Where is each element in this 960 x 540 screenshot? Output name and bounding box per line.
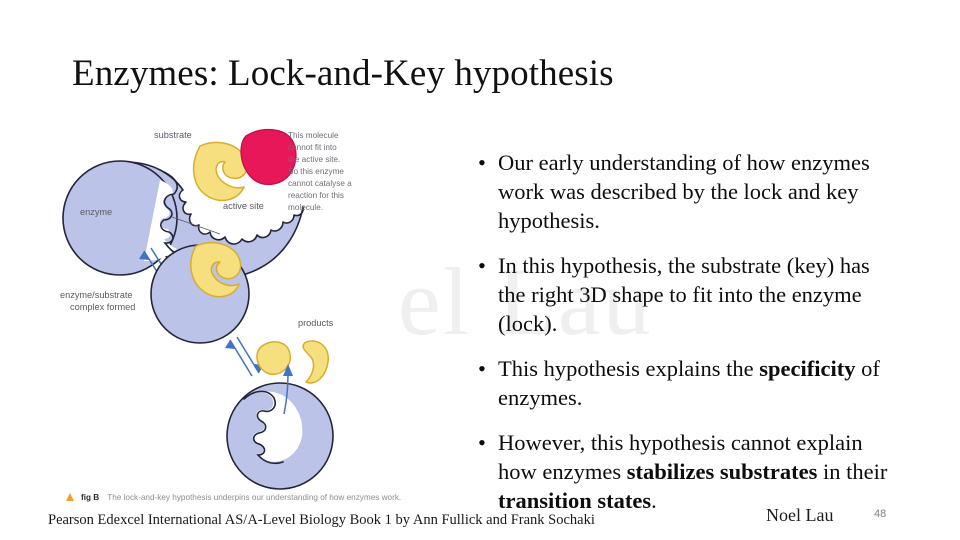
product-shape-left	[257, 342, 290, 374]
bullet-text-2: In this hypothesis, the substrate (key) …	[498, 253, 870, 336]
complex-label-line2: complex formed	[70, 302, 135, 312]
bullet-list: • Our early understanding of how enzymes…	[474, 148, 898, 515]
list-item: • This hypothesis explains the specifici…	[474, 354, 898, 412]
bullet-marker: •	[478, 428, 486, 457]
callout-line-4: cannot catalyse a	[288, 179, 352, 188]
figure-caption: fig BThe lock-and-key hypothesis underpi…	[66, 492, 466, 504]
product-shape-right	[303, 341, 328, 383]
complex-label-line1: enzyme/substrate	[60, 290, 133, 300]
callout-line-0: This molecule	[288, 131, 339, 140]
bullet-marker: •	[478, 354, 486, 383]
source-attribution: Pearson Edexcel International AS/A-Level…	[48, 512, 595, 529]
list-item: • However, this hypothesis cannot explai…	[474, 428, 898, 515]
lock-and-key-diagram: substrate enzyme active site This molecu…	[48, 118, 468, 518]
non-fitting-molecule-group: This molecule cannot fit into the active…	[241, 130, 352, 212]
active-site-label: active site	[223, 201, 264, 211]
enzyme-label: enzyme	[80, 207, 112, 217]
bullet-text-4: However, this hypothesis cannot explain …	[498, 430, 887, 513]
author-name: Noel Lau	[766, 505, 833, 526]
page-title: Enzymes: Lock-and-Key hypothesis	[72, 53, 832, 96]
slide-canvas: el Lau Enzymes: Lock-and-Key hypothesis …	[0, 0, 960, 540]
stage-products: products	[227, 318, 334, 489]
bullet-marker: •	[478, 251, 486, 280]
substrate-label: substrate	[154, 130, 192, 140]
figure-caption-text: The lock-and-key hypothesis underpins ou…	[107, 493, 401, 502]
list-item: • In this hypothesis, the substrate (key…	[474, 251, 898, 338]
list-item: • Our early understanding of how enzymes…	[474, 148, 898, 235]
callout-line-2: the active site.	[288, 155, 340, 164]
warning-triangle-icon	[66, 493, 74, 501]
figure-caption-label: fig B	[81, 493, 99, 502]
callout-line-1: cannot fit into	[288, 143, 337, 152]
bullet-marker: •	[478, 148, 486, 177]
products-label: products	[298, 318, 334, 328]
callout-line-3: So this enzyme	[288, 167, 344, 176]
callout-line-6: molecule.	[288, 203, 323, 212]
bullet-text-3: This hypothesis explains the specificity…	[498, 356, 880, 410]
page-number: 48	[874, 508, 886, 520]
molecule-callout-text: This molecule cannot fit into the active…	[288, 131, 352, 212]
callout-line-5: reaction for this	[288, 191, 344, 200]
bullet-text-1: Our early understanding of how enzymes w…	[498, 150, 870, 233]
substrate-shape	[194, 142, 247, 200]
